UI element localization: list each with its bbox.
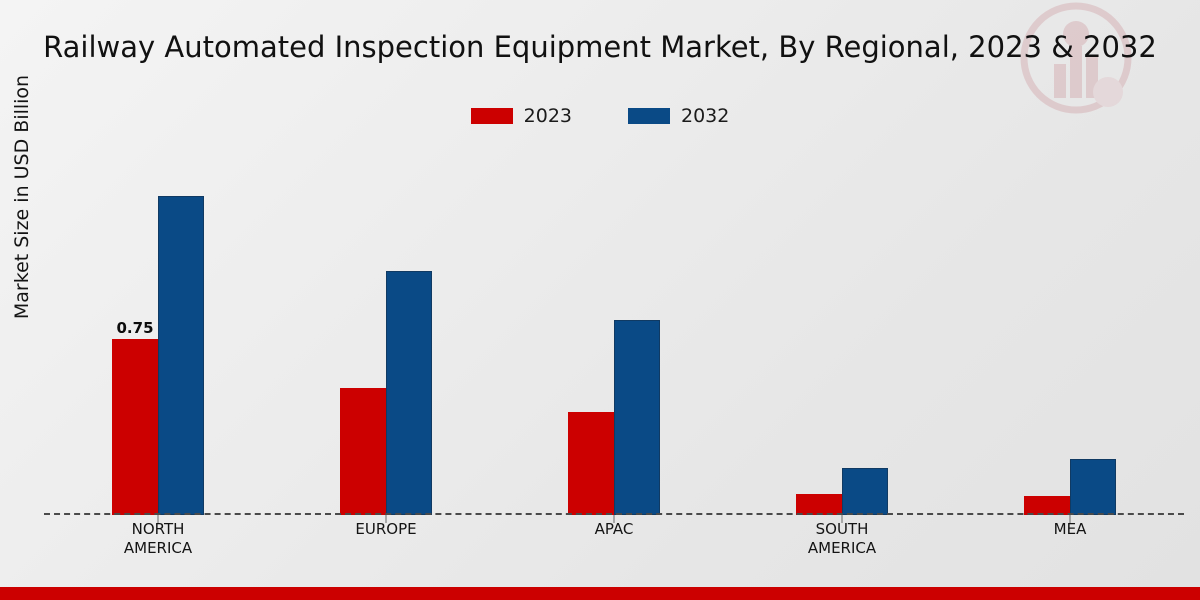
y-axis-title: Market Size in USD Billion [11,7,33,387]
x-axis-label-south-america: SOUTHAMERICA [728,520,956,558]
bar-2032-apac[interactable] [614,320,660,515]
bar-2032-mea[interactable] [1070,459,1116,515]
bar-pair: 0.75 [112,140,204,515]
bar-pair [568,140,660,515]
legend-label-2023: 2023 [524,105,572,127]
x-axis-label-line: NORTH [44,520,272,539]
bar-group [728,140,956,515]
bar-pair [796,140,888,515]
x-axis-label-mea: MEA [956,520,1184,558]
legend-label-2032: 2032 [681,105,729,127]
bar-2023-north-america[interactable]: 0.75 [112,339,158,515]
x-axis-labels: NORTHAMERICAEUROPEAPACSOUTHAMERICAMEA [44,520,1184,558]
bar-groups: 0.75 [44,140,1184,515]
x-axis-label-line: AMERICA [728,539,956,558]
bar-value-label: 0.75 [116,319,153,337]
bar-2032-south-america[interactable] [842,468,888,515]
x-axis-label-line: MEA [956,520,1184,539]
page-title: Railway Automated Inspection Equipment M… [0,30,1200,64]
bar-2032-north-america[interactable] [158,196,204,515]
legend-item-2023[interactable]: 2023 [471,105,572,127]
bar-pair [340,140,432,515]
plot-area: 0.75 [44,140,1184,515]
bar-group [272,140,500,515]
x-axis-label-europe: EUROPE [272,520,500,558]
bar-2023-europe[interactable] [340,388,386,515]
legend-swatch-2023 [471,108,513,124]
bar-2023-apac[interactable] [568,412,614,515]
chart-figure: Railway Automated Inspection Equipment M… [0,0,1200,600]
bar-group [956,140,1184,515]
legend-item-2032[interactable]: 2032 [628,105,729,127]
x-axis-label-line: SOUTH [728,520,956,539]
x-axis-label-line: AMERICA [44,539,272,558]
x-axis-label-line: APAC [500,520,728,539]
x-axis-label-line: EUROPE [272,520,500,539]
bar-group: 0.75 [44,140,272,515]
chart-legend: 2023 2032 [0,105,1200,127]
x-axis-label-apac: APAC [500,520,728,558]
x-axis-baseline [44,513,1184,515]
legend-swatch-2032 [628,108,670,124]
bar-2032-europe[interactable] [386,271,432,515]
x-axis-label-north-america: NORTHAMERICA [44,520,272,558]
bar-pair [1024,140,1116,515]
bar-2023-south-america[interactable] [796,494,842,515]
footer-accent-bar [0,587,1200,600]
bar-group [500,140,728,515]
